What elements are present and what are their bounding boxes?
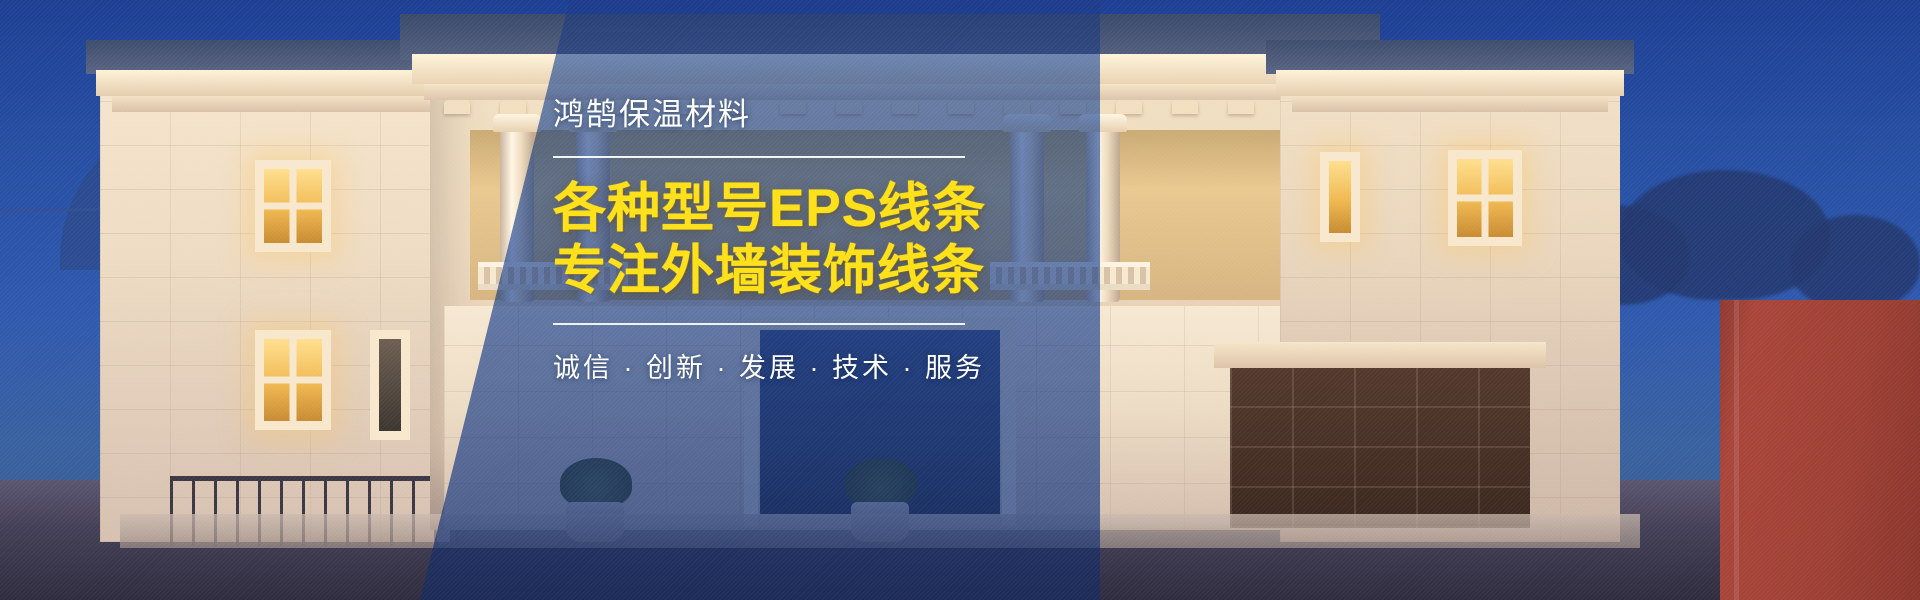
right-wing-cornice-cap xyxy=(1292,96,1608,112)
window-dark xyxy=(370,330,410,440)
tagline: 诚信 · 创新 · 发展 · 技术 · 服务 xyxy=(553,346,1023,385)
garage-lintel xyxy=(1214,342,1546,368)
garage-door xyxy=(1230,368,1530,528)
right-wing-cornice xyxy=(1276,70,1624,96)
right-wing-roof xyxy=(1266,40,1634,74)
window-glow xyxy=(1320,152,1360,242)
divider-bottom xyxy=(553,323,965,325)
divider-top xyxy=(553,156,965,158)
left-wing-facade xyxy=(100,60,450,542)
left-wing-cornice xyxy=(96,70,454,96)
window-glow xyxy=(1448,150,1522,246)
window-glow xyxy=(255,330,331,430)
headline-line-2: 专注外墙装饰线条 xyxy=(553,240,1023,301)
red-wall xyxy=(1720,300,1920,600)
promo-banner: 鸿鹄保温材料 各种型号EPS线条 专注外墙装饰线条 诚信 · 创新 · 发展 ·… xyxy=(0,0,1920,600)
brand-name: 鸿鹄保温材料 xyxy=(553,96,1023,133)
window-glow xyxy=(255,160,331,252)
banner-copy: 鸿鹄保温材料 各种型号EPS线条 专注外墙装饰线条 诚信 · 创新 · 发展 ·… xyxy=(553,96,1023,385)
left-wing-cornice-cap xyxy=(112,96,442,112)
headline: 各种型号EPS线条 专注外墙装饰线条 xyxy=(553,178,1023,301)
headline-line-1: 各种型号EPS线条 xyxy=(553,178,1023,239)
